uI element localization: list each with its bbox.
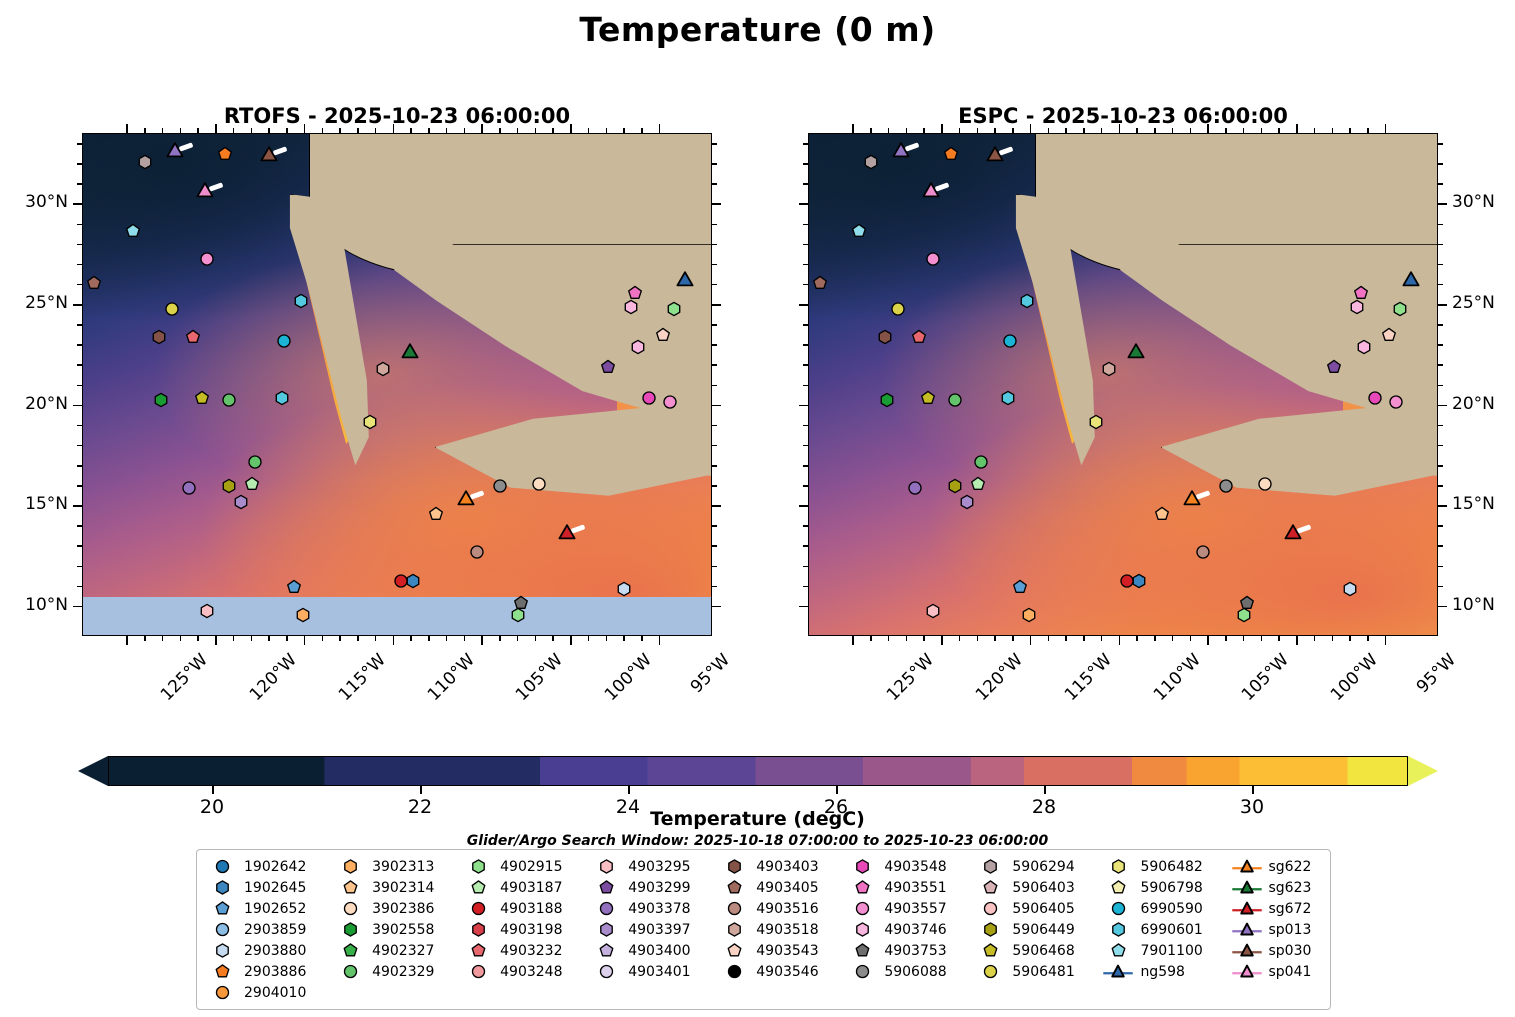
circle-marker-4903557[interactable] xyxy=(1389,394,1404,409)
legend-item[interactable]: 5906403 xyxy=(973,877,1101,898)
sst-field-espc xyxy=(809,134,1437,635)
y-tick-minor-right xyxy=(712,143,717,145)
hexagon-marker-4903403[interactable] xyxy=(878,330,893,345)
hexagon-marker-5906482[interactable] xyxy=(1089,414,1104,429)
y-tick-minor-left xyxy=(803,244,808,246)
y-tick-minor-right xyxy=(1438,385,1443,387)
circle-marker-icon xyxy=(205,985,239,1000)
pentagon-marker-4903551[interactable] xyxy=(1353,285,1368,300)
x-tick xyxy=(304,636,306,645)
circle-marker-3902386[interactable] xyxy=(532,477,547,492)
circle-marker-4902329[interactable] xyxy=(947,392,962,407)
x-tick-minor xyxy=(1190,636,1192,641)
hexagon-marker-5906294[interactable] xyxy=(864,155,879,170)
hexagon-marker-6990601[interactable] xyxy=(294,293,309,308)
legend-item-label: 5906405 xyxy=(1007,901,1074,917)
y-tick-minor-left xyxy=(803,525,808,527)
colorbar-tick xyxy=(628,786,630,794)
x-tick xyxy=(215,636,217,645)
x-tick-minor xyxy=(499,636,501,641)
legend-item[interactable]: 4903248 xyxy=(461,961,589,982)
circle-marker-4903378[interactable] xyxy=(182,481,197,496)
hexagon-marker-3902558[interactable] xyxy=(880,392,895,407)
hexagon-marker-6990601[interactable] xyxy=(1020,293,1035,308)
legend-item-label: sp030 xyxy=(1264,943,1312,959)
legend-item[interactable]: 2903859 xyxy=(205,919,333,940)
circle-marker-5906481[interactable] xyxy=(890,302,905,317)
x-tick-minor-top xyxy=(446,128,448,133)
pentagon-marker-2903886[interactable] xyxy=(943,147,958,162)
nodata-band xyxy=(83,597,711,635)
x-tick-minor xyxy=(197,636,199,641)
y-tick-minor-right xyxy=(1438,465,1443,467)
triangle-marker-sp013[interactable] xyxy=(891,142,911,162)
circle-marker-5906481[interactable] xyxy=(164,302,179,317)
triangle-marker-ng598[interactable] xyxy=(675,271,695,291)
y-tick-left xyxy=(73,203,82,205)
legend-item-label: 6990590 xyxy=(1135,901,1202,917)
circle-marker-4903516[interactable] xyxy=(469,545,484,560)
pentagon-marker-1902652[interactable] xyxy=(287,579,302,594)
legend-item-label: 4903548 xyxy=(879,859,946,875)
pentagon-marker-5906468[interactable] xyxy=(194,390,209,405)
legend-item[interactable]: 4903378 xyxy=(589,898,717,919)
pentagon-marker-icon xyxy=(973,943,1007,958)
hexagon-marker-3902313[interactable] xyxy=(1022,607,1037,622)
legend-item[interactable]: 7901100 xyxy=(1101,940,1229,961)
legend-item[interactable]: 4902327 xyxy=(333,940,461,961)
legend-item-label: 4903543 xyxy=(751,943,818,959)
x-tick-top xyxy=(126,124,128,133)
x-tick-minor xyxy=(375,636,377,641)
triangle-marker-sg672[interactable] xyxy=(1283,524,1303,544)
hexagon-marker-icon xyxy=(205,943,239,958)
circle-marker-5906088[interactable] xyxy=(1219,479,1234,494)
legend-item[interactable]: 5906481 xyxy=(973,961,1101,982)
y-tick-right xyxy=(1438,203,1447,205)
pentagon-marker-4903405[interactable] xyxy=(812,275,827,290)
triangle-marker-sg623[interactable] xyxy=(1126,343,1146,363)
x-tick-minor xyxy=(606,636,608,641)
x-tick-minor-top xyxy=(499,128,501,133)
hexagon-marker-4903295[interactable] xyxy=(200,603,215,618)
y-tick-label: 25°N xyxy=(10,293,68,313)
circle-marker-5906088[interactable] xyxy=(493,479,508,494)
legend-item[interactable]: 4903546 xyxy=(717,961,845,982)
map-panel-espc[interactable] xyxy=(808,133,1438,636)
pentagon-marker-4903543[interactable] xyxy=(656,328,671,343)
y-tick-minor-right xyxy=(712,264,717,266)
hexagon-marker-4903397[interactable] xyxy=(959,495,974,510)
legend-item[interactable]: 5906449 xyxy=(973,919,1101,940)
x-tick-label: 105°W xyxy=(1238,650,1293,705)
legend-item-label: 4903746 xyxy=(879,922,946,938)
legend-item[interactable]: 5906405 xyxy=(973,898,1101,919)
hexagon-marker-icon xyxy=(845,859,879,874)
y-tick-minor-left xyxy=(77,344,82,346)
x-tick-minor-top xyxy=(1190,128,1192,133)
x-tick-minor xyxy=(977,636,979,641)
legend-item[interactable]: 4903232 xyxy=(461,940,589,961)
y-tick-right xyxy=(1438,606,1447,608)
x-tick-minor-top xyxy=(535,128,537,133)
legend-item-label: 5906294 xyxy=(1007,859,1074,875)
circle-marker-4903557[interactable] xyxy=(663,394,678,409)
hexagon-marker-5906294[interactable] xyxy=(138,155,153,170)
colorbar-label: Temperature (degC) xyxy=(0,808,1515,830)
hexagon-marker-5906449[interactable] xyxy=(947,479,962,494)
colorbar-tick xyxy=(1044,786,1046,794)
pentagon-marker-4903187[interactable] xyxy=(244,477,259,492)
triangle-marker-ng598[interactable] xyxy=(1401,271,1421,291)
legend-item-label: 4903405 xyxy=(751,880,818,896)
pentagon-marker-3902314[interactable] xyxy=(429,507,444,522)
legend-item[interactable]: 5906482 xyxy=(1101,856,1229,877)
legend-item-label: 1902642 xyxy=(239,859,306,875)
legend-item[interactable]: 6990590 xyxy=(1101,898,1229,919)
pentagon-marker-4903543[interactable] xyxy=(1382,328,1397,343)
x-tick-minor-top xyxy=(339,128,341,133)
legend-item-label: ng598 xyxy=(1135,964,1184,980)
legend-item[interactable]: 4903403 xyxy=(717,856,845,877)
legend-item-label: 4903232 xyxy=(495,943,562,959)
x-tick-top xyxy=(1296,124,1298,133)
legend-item[interactable]: 3902314 xyxy=(333,877,461,898)
pentagon-marker-4903299[interactable] xyxy=(601,360,616,375)
legend-item[interactable]: 4903516 xyxy=(717,898,845,919)
hexagon-marker-icon xyxy=(717,859,751,874)
hexagon-marker-4902915[interactable] xyxy=(1236,607,1251,622)
y-tick-minor-right xyxy=(1438,183,1443,185)
x-tick-minor-top xyxy=(1243,128,1245,133)
x-tick-label: 110°W xyxy=(1149,650,1204,705)
legend-item[interactable]: 1902652 xyxy=(205,898,333,919)
y-tick-minor-left xyxy=(803,143,808,145)
x-tick-minor xyxy=(1136,636,1138,641)
legend-item[interactable]: 1902642 xyxy=(205,856,333,877)
hexagon-marker-6990601[interactable] xyxy=(274,390,289,405)
legend-item[interactable]: 4902329 xyxy=(333,961,461,982)
x-tick-label: 115°W xyxy=(1061,650,1116,705)
legend-item[interactable]: 4903188 xyxy=(461,898,589,919)
legend-item[interactable]: 4903746 xyxy=(845,919,973,940)
hexagon-marker-3902313[interactable] xyxy=(296,607,311,622)
y-tick-minor-left xyxy=(77,364,82,366)
hexagon-marker-3902558[interactable] xyxy=(154,392,169,407)
y-tick-minor-right xyxy=(1438,264,1443,266)
x-tick-minor xyxy=(1048,636,1050,641)
hexagon-marker-4902915[interactable] xyxy=(1392,302,1407,317)
legend-item[interactable]: 4903548 xyxy=(845,856,973,877)
y-tick-minor-left xyxy=(77,163,82,165)
legend-item[interactable]: 1902645 xyxy=(205,877,333,898)
pentagon-marker-4903232[interactable] xyxy=(186,330,201,345)
hexagon-marker-4902915[interactable] xyxy=(510,607,525,622)
y-tick-label: 30°N xyxy=(10,192,68,212)
circle-marker-icon xyxy=(717,964,751,979)
x-tick-minor xyxy=(959,636,961,641)
legend-item[interactable]: 2903886 xyxy=(205,961,333,982)
legend-item[interactable]: 6990601 xyxy=(1101,919,1229,940)
legend-item-label: 4902327 xyxy=(367,943,434,959)
x-tick-minor-top xyxy=(410,128,412,133)
circle-marker-icon xyxy=(973,964,1007,979)
y-tick-minor-left xyxy=(77,525,82,527)
pentagon-marker-5906468[interactable] xyxy=(920,390,935,405)
circle-marker-6990590[interactable] xyxy=(276,334,291,349)
legend-item[interactable]: sg623 xyxy=(1230,877,1327,898)
triangle-marker-sg623[interactable] xyxy=(400,343,420,363)
hexagon-marker-icon xyxy=(333,922,367,937)
colorbar-tick xyxy=(212,786,214,794)
legend-item[interactable]: 2904010 xyxy=(205,982,333,1003)
legend-item-label: 4903397 xyxy=(623,922,690,938)
triangle-marker-icon xyxy=(1230,901,1264,917)
pentagon-marker-4903187[interactable] xyxy=(970,477,985,492)
circle-marker-4903557[interactable] xyxy=(926,251,941,266)
hexagon-marker-4903746[interactable] xyxy=(624,300,639,315)
x-tick-minor xyxy=(162,636,164,641)
legend-item[interactable]: 5906468 xyxy=(973,940,1101,961)
x-tick-minor xyxy=(144,636,146,641)
circle-marker-4903546[interactable] xyxy=(642,390,657,405)
triangle-marker-sg622[interactable] xyxy=(1182,490,1202,510)
hexagon-marker-4903518[interactable] xyxy=(375,362,390,377)
hexagon-marker-4903518[interactable] xyxy=(1101,362,1116,377)
y-tick-minor-right xyxy=(712,566,717,568)
legend-item[interactable]: sp041 xyxy=(1230,961,1327,982)
legend-item[interactable]: 3902386 xyxy=(333,898,461,919)
pentagon-marker-4903551[interactable] xyxy=(627,285,642,300)
circle-marker-4903557[interactable] xyxy=(200,251,215,266)
y-tick-left xyxy=(799,203,808,205)
legend-column: 4902915490318749031884903198490323249032… xyxy=(461,856,589,1003)
legend-item[interactable]: 5906294 xyxy=(973,856,1101,877)
x-tick-minor xyxy=(1278,636,1280,641)
legend-item[interactable]: 4903551 xyxy=(845,877,973,898)
hexagon-marker-icon xyxy=(205,880,239,895)
legend-item[interactable]: sg622 xyxy=(1230,856,1327,877)
pentagon-marker-icon xyxy=(589,943,623,958)
legend-item[interactable]: 4903397 xyxy=(589,919,717,940)
panel-title-espc: ESPC - 2025-10-23 06:00:00 xyxy=(808,104,1438,128)
legend-item[interactable]: 4903543 xyxy=(717,940,845,961)
hexagon-marker-4903397[interactable] xyxy=(233,495,248,510)
y-tick-minor-left xyxy=(803,385,808,387)
y-tick-minor-right xyxy=(712,465,717,467)
hexagon-marker-1902645[interactable] xyxy=(406,573,421,588)
hexagon-marker-icon xyxy=(1101,859,1135,874)
legend-item-label: 4903187 xyxy=(495,880,562,896)
x-tick-minor-top xyxy=(1154,128,1156,133)
x-tick-top xyxy=(1119,124,1121,133)
x-tick xyxy=(852,636,854,645)
y-tick-minor-left xyxy=(77,385,82,387)
legend-item[interactable]: 4903400 xyxy=(589,940,717,961)
x-tick-top xyxy=(304,124,306,133)
x-tick-minor-top xyxy=(1172,128,1174,133)
legend-item[interactable]: 2903880 xyxy=(205,940,333,961)
legend-item[interactable]: 4903518 xyxy=(717,919,845,940)
hexagon-marker-4903295[interactable] xyxy=(926,603,941,618)
colorbar-tick xyxy=(836,786,838,794)
legend-item[interactable]: 4903198 xyxy=(461,919,589,940)
pentagon-marker-7901100[interactable] xyxy=(125,223,140,238)
circle-marker-4902329[interactable] xyxy=(221,392,236,407)
legend-item[interactable]: 3902558 xyxy=(333,919,461,940)
legend-item[interactable]: 4903401 xyxy=(589,961,717,982)
x-tick-minor-top xyxy=(180,128,182,133)
pentagon-marker-2903886[interactable] xyxy=(217,147,232,162)
y-tick-minor-left xyxy=(803,324,808,326)
hexagon-marker-icon xyxy=(845,922,879,937)
y-tick-label: 10°N xyxy=(10,595,68,615)
triangle-marker-sp030[interactable] xyxy=(985,146,1005,166)
triangle-marker-sp013[interactable] xyxy=(165,142,185,162)
pentagon-marker-icon xyxy=(205,964,239,979)
circle-marker-4903516[interactable] xyxy=(1195,545,1210,560)
x-tick xyxy=(1296,636,1298,645)
legend-item[interactable]: 4903299 xyxy=(589,877,717,898)
circle-marker-4903546[interactable] xyxy=(1368,390,1383,405)
y-tick-minor-left xyxy=(77,445,82,447)
x-tick-top xyxy=(570,124,572,133)
hexagon-marker-4903403[interactable] xyxy=(152,330,167,345)
x-tick-minor-top xyxy=(375,128,377,133)
hexagon-marker-4902915[interactable] xyxy=(666,302,681,317)
circle-marker-3902386[interactable] xyxy=(1258,477,1273,492)
x-tick-minor xyxy=(1332,636,1334,641)
x-tick-minor xyxy=(464,636,466,641)
map-panel-rtofs[interactable] xyxy=(82,133,712,636)
colorbar[interactable]: 202224262830 xyxy=(68,756,1448,786)
triangle-marker-sp041[interactable] xyxy=(921,182,941,202)
hexagon-marker-6990601[interactable] xyxy=(1000,390,1015,405)
x-tick-minor-top xyxy=(464,128,466,133)
circle-marker-icon xyxy=(461,964,495,979)
y-tick-right xyxy=(712,505,721,507)
legend-item-label: 4903400 xyxy=(623,943,690,959)
x-tick-minor xyxy=(1225,636,1227,641)
pentagon-marker-4903405[interactable] xyxy=(86,275,101,290)
circle-marker-icon xyxy=(589,964,623,979)
legend-item[interactable]: 4903187 xyxy=(461,877,589,898)
triangle-marker-sg672[interactable] xyxy=(557,524,577,544)
hexagon-marker-4903746[interactable] xyxy=(1350,300,1365,315)
hexagon-marker-5906449[interactable] xyxy=(221,479,236,494)
legend-item[interactable]: 4903405 xyxy=(717,877,845,898)
circle-marker-icon xyxy=(205,859,239,874)
y-tick-left xyxy=(799,304,808,306)
legend-item-label: 3902313 xyxy=(367,859,434,875)
y-tick-minor-right xyxy=(712,183,717,185)
y-tick-minor-right xyxy=(1438,586,1443,588)
x-tick-minor xyxy=(180,636,182,641)
legend-item-label: 5906088 xyxy=(879,964,946,980)
legend-item[interactable]: sp013 xyxy=(1230,919,1327,940)
x-tick-minor-top xyxy=(1136,128,1138,133)
y-tick-right xyxy=(712,405,721,407)
hexagon-marker-2903880[interactable] xyxy=(617,581,632,596)
hexagon-marker-1902645[interactable] xyxy=(1132,573,1147,588)
y-tick-minor-left xyxy=(77,183,82,185)
x-tick-minor-top xyxy=(251,128,253,133)
x-tick-minor xyxy=(994,636,996,641)
triangle-marker-sg622[interactable] xyxy=(456,490,476,510)
triangle-marker-icon xyxy=(1230,859,1264,875)
legend-item-label: 7901100 xyxy=(1135,943,1202,959)
triangle-marker-sp030[interactable] xyxy=(259,146,279,166)
legend-item[interactable]: 4903295 xyxy=(589,856,717,877)
legend-item-label: 4903188 xyxy=(495,901,562,917)
legend-item-label: 2903859 xyxy=(239,922,306,938)
circle-marker-icon xyxy=(973,901,1007,916)
x-tick-minor-top xyxy=(357,128,359,133)
triangle-marker-sp041[interactable] xyxy=(195,182,215,202)
circle-marker-4903378[interactable] xyxy=(908,481,923,496)
y-tick-minor-right xyxy=(1438,244,1443,246)
y-tick-minor-right xyxy=(1438,545,1443,547)
y-tick-minor-right xyxy=(712,364,717,366)
y-tick-minor-right xyxy=(712,344,717,346)
circle-marker-icon xyxy=(589,901,623,916)
pentagon-marker-3902314[interactable] xyxy=(1155,507,1170,522)
y-tick-minor-right xyxy=(712,284,717,286)
legend-item[interactable]: sg672 xyxy=(1230,898,1327,919)
y-tick-minor-left xyxy=(77,224,82,226)
legend-column: 4903548490355149035574903746490375359060… xyxy=(845,856,973,1003)
circle-marker-4902329[interactable] xyxy=(974,454,989,469)
x-tick-label: 115°W xyxy=(335,650,390,705)
hexagon-marker-4903746[interactable] xyxy=(1357,340,1372,355)
x-tick-minor xyxy=(1101,636,1103,641)
y-tick-minor-right xyxy=(712,545,717,547)
legend[interactable]: 1902642190264519026522903859290388029038… xyxy=(196,849,1331,1010)
circle-marker-4902329[interactable] xyxy=(248,454,263,469)
y-tick-label: 10°N xyxy=(1452,595,1495,615)
circle-marker-icon xyxy=(845,901,879,916)
x-tick-top xyxy=(941,124,943,133)
pentagon-marker-4903232[interactable] xyxy=(912,330,927,345)
legend-item[interactable]: 5906798 xyxy=(1101,877,1229,898)
y-tick-minor-left xyxy=(803,224,808,226)
pentagon-marker-1902652[interactable] xyxy=(1013,579,1028,594)
y-tick-right xyxy=(1438,405,1447,407)
x-tick-label: 95°W xyxy=(687,650,734,697)
legend-item[interactable]: ng598 xyxy=(1101,961,1229,982)
y-tick-minor-left xyxy=(803,586,808,588)
y-tick-left xyxy=(799,606,808,608)
x-tick-label: 100°W xyxy=(601,650,656,705)
legend-item[interactable]: 5906088 xyxy=(845,961,973,982)
y-tick-minor-left xyxy=(77,244,82,246)
circle-marker-6990590[interactable] xyxy=(1002,334,1017,349)
y-tick-left xyxy=(799,505,808,507)
legend-item[interactable]: 4903557 xyxy=(845,898,973,919)
legend-item[interactable]: 4903753 xyxy=(845,940,973,961)
legend-item[interactable]: 4902915 xyxy=(461,856,589,877)
legend-item[interactable]: sp030 xyxy=(1230,940,1327,961)
legend-item-label: sg672 xyxy=(1264,901,1312,917)
hexagon-marker-4903746[interactable] xyxy=(631,340,646,355)
hexagon-marker-2903880[interactable] xyxy=(1343,581,1358,596)
circle-marker-icon xyxy=(333,901,367,916)
pentagon-marker-4903299[interactable] xyxy=(1327,360,1342,375)
x-tick-minor xyxy=(1083,636,1085,641)
pentagon-marker-7901100[interactable] xyxy=(851,223,866,238)
legend-item[interactable]: 3902313 xyxy=(333,856,461,877)
hexagon-marker-5906482[interactable] xyxy=(363,414,378,429)
